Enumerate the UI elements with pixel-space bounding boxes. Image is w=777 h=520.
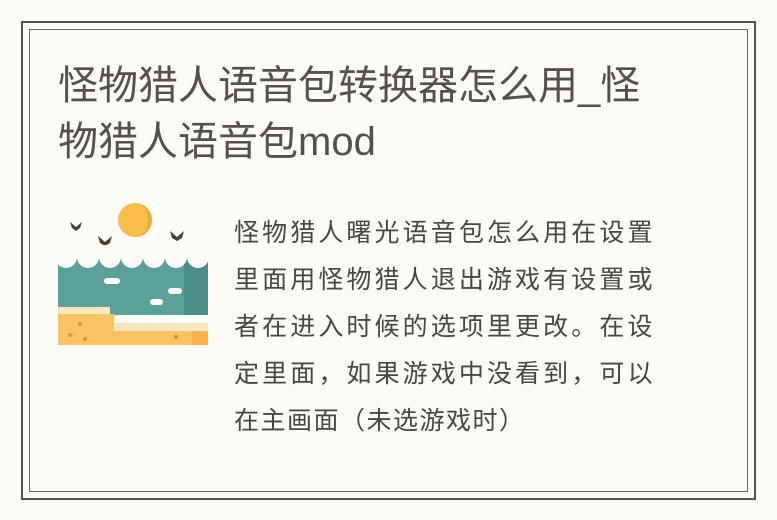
sun-icon [118, 203, 152, 237]
article-body-text: 怪物猎人曙光语音包怎么用在设置里面用怪物猎人退出游戏有设置或者在进入时候的选项里… [234, 209, 654, 444]
sea-shape [58, 245, 208, 315]
beach-illustration-icon [58, 195, 208, 345]
article-thumbnail [58, 195, 208, 345]
article-card: 怪物猎人语音包转换器怎么用_怪物猎人语音包mod [21, 21, 756, 500]
article-body-block: 怪物猎人曙光语音包怎么用在设置里面用怪物猎人退出游戏有设置或者在进入时候的选项里… [58, 195, 726, 455]
article-title: 怪物猎人语音包转换器怎么用_怪物猎人语音包mod [58, 58, 658, 170]
